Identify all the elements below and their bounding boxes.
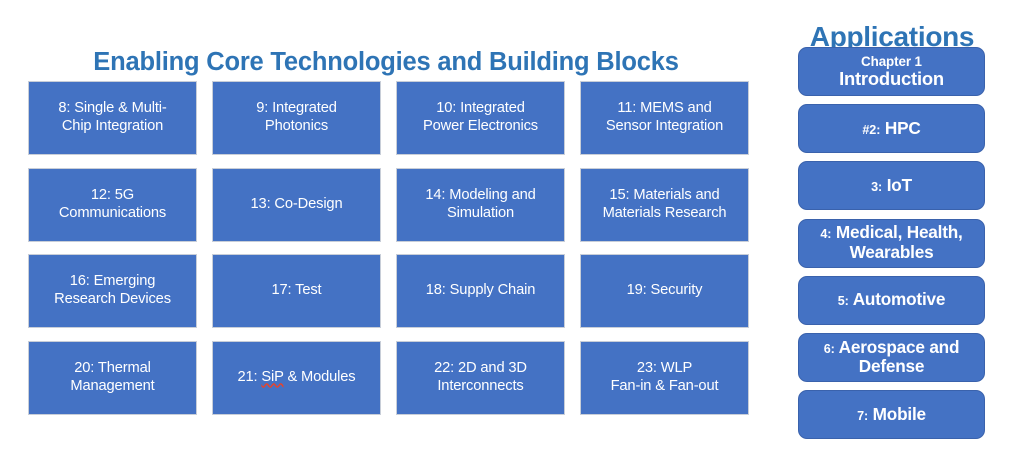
technology-box[interactable]: 13: Co-Design — [212, 168, 381, 242]
technology-box[interactable]: 8: Single & Multi-Chip Integration — [28, 81, 197, 155]
technology-box[interactable]: 15: Materials andMaterials Research — [580, 168, 749, 242]
application-box-content: 4: Medical, Health, Wearables — [805, 223, 978, 263]
application-number: 4: — [820, 227, 831, 241]
technology-box[interactable]: 14: Modeling andSimulation — [396, 168, 565, 242]
application-box[interactable]: Chapter 1Introduction — [798, 47, 985, 96]
technology-box[interactable]: 19: Security — [580, 254, 749, 328]
application-label: Automotive — [849, 289, 945, 309]
application-label: Introduction — [839, 69, 944, 90]
application-label: Aerospace and Defense — [835, 337, 960, 377]
spellcheck-misspelled-word: SiP — [261, 369, 283, 385]
application-box-content: 6: Aerospace and Defense — [805, 338, 978, 378]
technology-box[interactable]: 9: IntegratedPhotonics — [212, 81, 381, 155]
application-number: 5: — [838, 294, 849, 308]
technology-box[interactable]: 17: Test — [212, 254, 381, 328]
application-box-content: Chapter 1Introduction — [839, 54, 944, 90]
technology-box-label: 9: IntegratedPhotonics — [256, 100, 337, 136]
application-box[interactable]: 6: Aerospace and Defense — [798, 333, 985, 382]
enabling-core-technologies-section: Enabling Core Technologies and Building … — [0, 0, 772, 458]
technology-box-label: 8: Single & Multi-Chip Integration — [58, 100, 166, 136]
applications-section: Applications Chapter 1Introduction#2: HP… — [772, 0, 1024, 458]
application-label: Mobile — [868, 404, 926, 424]
technology-box-grid: 8: Single & Multi-Chip Integration9: Int… — [28, 81, 751, 416]
technology-box-label: 20: ThermalManagement — [70, 360, 154, 396]
application-box-content: 3: IoT — [871, 176, 912, 196]
application-box-content: 5: Automotive — [838, 290, 945, 310]
technology-box-label: 11: MEMS andSensor Integration — [606, 100, 723, 136]
technology-box[interactable]: 22: 2D and 3DInterconnects — [396, 341, 565, 415]
application-label: HPC — [880, 118, 920, 138]
technology-box-label: 15: Materials andMaterials Research — [603, 187, 727, 223]
technology-box-label: 22: 2D and 3DInterconnects — [434, 360, 527, 396]
technology-box-label: 21: SiP & Modules — [237, 369, 355, 387]
technology-box[interactable]: 12: 5GCommunications — [28, 168, 197, 242]
technology-box-label: 17: Test — [272, 282, 322, 300]
application-box-content: #2: HPC — [862, 119, 920, 139]
application-number: 7: — [857, 409, 868, 423]
technology-box[interactable]: 21: SiP & Modules — [212, 341, 381, 415]
application-number: Chapter 1 — [839, 54, 944, 69]
application-label: Medical, Health, Wearables — [831, 222, 962, 262]
technology-box[interactable]: 10: IntegratedPower Electronics — [396, 81, 565, 155]
technology-box-label: 12: 5GCommunications — [59, 187, 166, 223]
left-section-title: Enabling Core Technologies and Building … — [0, 48, 772, 77]
technology-box[interactable]: 16: EmergingResearch Devices — [28, 254, 197, 328]
technology-box[interactable]: 18: Supply Chain — [396, 254, 565, 328]
application-number: 3: — [871, 180, 882, 194]
application-box-content: 7: Mobile — [857, 405, 926, 425]
technology-box-label: 19: Security — [627, 282, 703, 300]
technology-box-label: 13: Co-Design — [251, 196, 343, 214]
technology-box[interactable]: 23: WLPFan-in & Fan-out — [580, 341, 749, 415]
technology-box[interactable]: 11: MEMS andSensor Integration — [580, 81, 749, 155]
application-box[interactable]: 3: IoT — [798, 161, 985, 210]
technology-box-label: 18: Supply Chain — [426, 282, 535, 300]
technology-box-label: 16: EmergingResearch Devices — [54, 273, 171, 309]
technology-box-label: 23: WLPFan-in & Fan-out — [611, 360, 719, 396]
applications-list: Chapter 1Introduction#2: HPC3: IoT4: Med… — [798, 47, 985, 439]
technology-box-label: 10: IntegratedPower Electronics — [423, 100, 538, 136]
application-number: 6: — [824, 342, 835, 356]
slide-canvas: Enabling Core Technologies and Building … — [0, 0, 1024, 458]
technology-box[interactable]: 20: ThermalManagement — [28, 341, 197, 415]
application-box[interactable]: 7: Mobile — [798, 390, 985, 439]
application-box[interactable]: #2: HPC — [798, 104, 985, 153]
application-box[interactable]: 5: Automotive — [798, 276, 985, 325]
application-box[interactable]: 4: Medical, Health, Wearables — [798, 219, 985, 268]
application-number: #2: — [862, 123, 880, 137]
technology-box-label: 14: Modeling andSimulation — [425, 187, 535, 223]
application-label: IoT — [882, 175, 912, 195]
